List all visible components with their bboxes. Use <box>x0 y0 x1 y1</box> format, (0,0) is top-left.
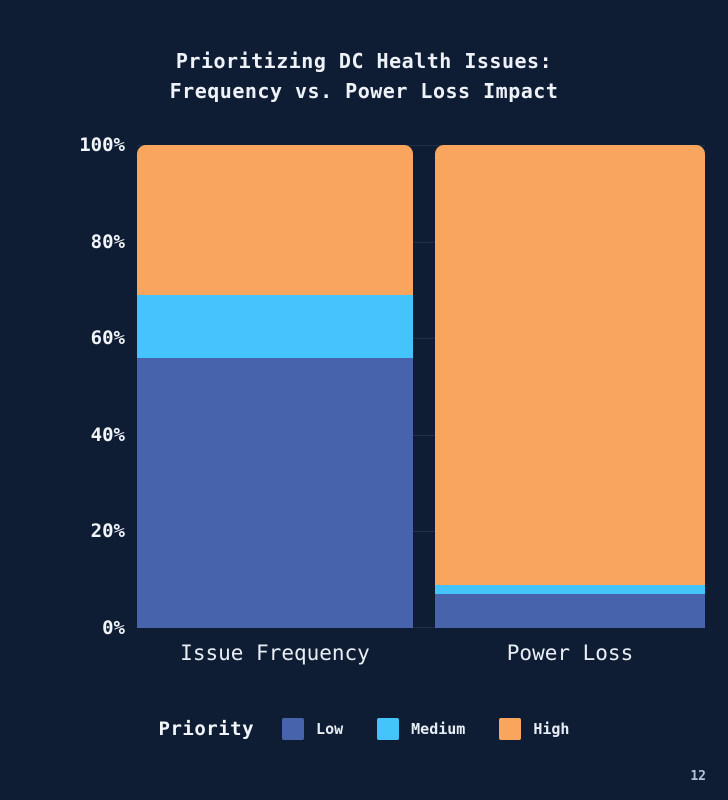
chart-legend: Priority Low Medium High <box>0 718 728 740</box>
bar-segment-high[interactable] <box>435 145 705 585</box>
bar-issue-frequency[interactable] <box>137 145 413 628</box>
chart-title-line-1: Prioritizing DC Health Issues: <box>0 46 728 76</box>
legend-item-medium[interactable]: Medium <box>377 718 465 740</box>
legend-swatch-high-icon <box>499 718 521 740</box>
y-axis-tick-0: 0% <box>0 618 125 638</box>
bar-stack-issue-frequency <box>137 145 413 628</box>
y-axis-tick-60: 60% <box>0 328 125 348</box>
legend-item-low[interactable]: Low <box>282 718 343 740</box>
y-axis-tick-100: 100% <box>0 135 125 155</box>
chart-title-line-2: Frequency vs. Power Loss Impact <box>0 76 728 106</box>
y-axis-tick-40: 40% <box>0 425 125 445</box>
legend-title: Priority <box>159 718 255 740</box>
bar-power-loss[interactable] <box>435 145 705 628</box>
legend-label-high: High <box>533 720 569 738</box>
page-number: 12 <box>690 769 706 784</box>
bar-stack-power-loss <box>435 145 705 628</box>
x-axis-label-issue-frequency: Issue Frequency <box>137 638 413 668</box>
bar-segment-high[interactable] <box>137 145 413 295</box>
y-axis-tick-80: 80% <box>0 232 125 252</box>
bar-segment-low[interactable] <box>137 358 413 628</box>
legend-label-medium: Medium <box>411 720 465 738</box>
y-axis: 0% 20% 40% 60% 80% 100% <box>0 145 125 628</box>
y-axis-tick-20: 20% <box>0 521 125 541</box>
bar-segment-low[interactable] <box>435 594 705 628</box>
bar-segment-medium[interactable] <box>137 295 413 358</box>
legend-swatch-low-icon <box>282 718 304 740</box>
legend-label-low: Low <box>316 720 343 738</box>
legend-item-high[interactable]: High <box>499 718 569 740</box>
bar-segment-medium[interactable] <box>435 585 705 595</box>
x-axis-label-power-loss: Power Loss <box>435 638 705 668</box>
plot-area <box>137 145 705 628</box>
chart-title: Prioritizing DC Health Issues: Frequency… <box>0 46 728 106</box>
legend-swatch-medium-icon <box>377 718 399 740</box>
